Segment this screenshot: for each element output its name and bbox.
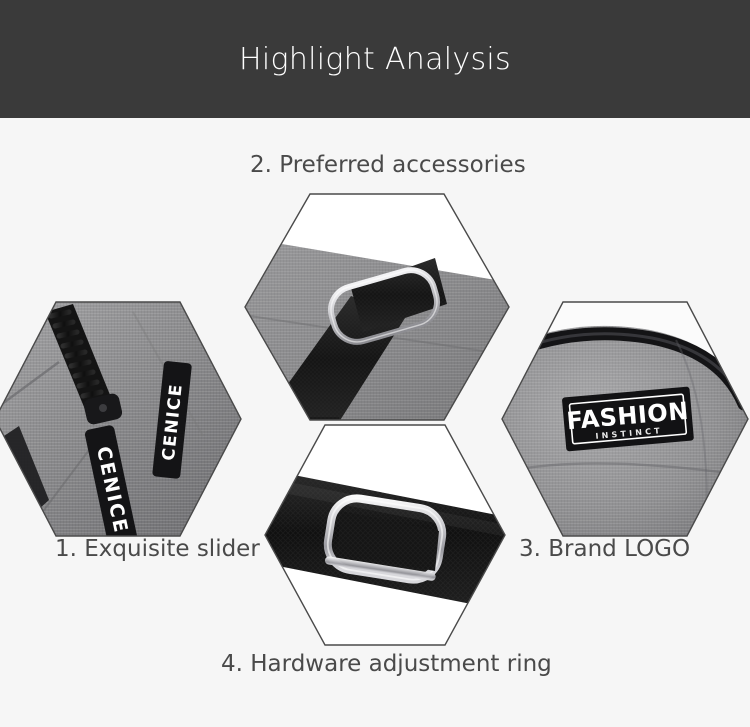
- panel-preferred-accessories: [243, 192, 511, 422]
- panel-hardware-adjustment-ring: [263, 423, 507, 647]
- caption-exquisite-slider: 1. Exquisite slider: [55, 536, 260, 562]
- panel-brand-logo: FASHION INSTINCT: [500, 300, 750, 538]
- caption-brand-logo: 3. Brand LOGO: [519, 536, 690, 562]
- panel-image-exquisite-slider: CENICE CENICE: [0, 300, 243, 538]
- panel-image-hardware-adjustment-ring: [263, 423, 507, 647]
- panel-image-preferred-accessories: [243, 192, 511, 422]
- caption-hardware-adjustment-ring: 4. Hardware adjustment ring: [221, 651, 552, 677]
- panel-image-brand-logo: FASHION INSTINCT: [500, 300, 750, 538]
- caption-preferred-accessories: 2. Preferred accessories: [250, 152, 526, 178]
- panel-exquisite-slider: CENICE CENICE: [0, 300, 243, 538]
- header-bar: Highlight Analysis: [0, 0, 750, 118]
- page-title: Highlight Analysis: [239, 42, 511, 77]
- infographic-stage: CENICE CENICE: [0, 118, 750, 727]
- brand-patch: FASHION INSTINCT: [562, 387, 694, 452]
